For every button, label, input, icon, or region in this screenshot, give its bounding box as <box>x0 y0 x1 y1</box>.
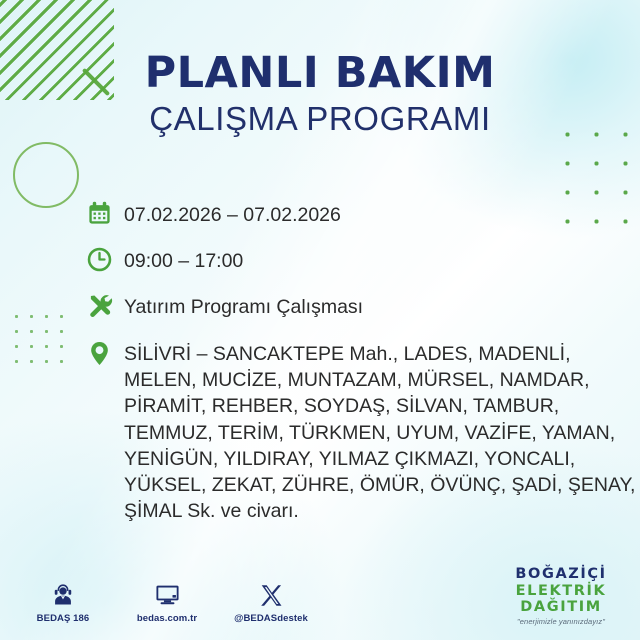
headset-support-icon <box>24 578 102 608</box>
page-subtitle: ÇALIŞMA PROGRAMI <box>0 102 640 137</box>
address-line: SİLİVRİ – SANCAKTEPE Mah., LADES, MADENL… <box>124 343 570 365</box>
address-line: PİRAMİT, REHBER, SOYDAŞ, SİLVAN, TAMBUR, <box>124 395 559 417</box>
logo-line-elektrik: ELEKTRİK <box>498 583 624 599</box>
time-range-text: 09:00 – 17:00 <box>124 246 243 275</box>
bedas-logo: BOĞAZİÇİ ELEKTRİK DAĞITIM "enerjimizle y… <box>498 566 624 626</box>
circle-outline-decoration <box>13 142 79 208</box>
contact-x-account[interactable]: @BEDASdestek <box>232 578 310 624</box>
clock-icon <box>86 246 124 280</box>
address-row: SİLİVRİ – SANCAKTEPE Mah., LADES, MADENL… <box>86 338 632 525</box>
logo-line-dagitim: DAĞITIM <box>498 599 624 615</box>
contact-call-center[interactable]: BEDAŞ 186 <box>24 578 102 624</box>
logo-line-bogazici: BOĞAZİÇİ <box>498 566 624 582</box>
calendar-icon <box>86 200 124 234</box>
address-line: ŞİMAL Sk. ve civarı. <box>124 500 299 522</box>
contact-label: BEDAŞ 186 <box>24 613 102 624</box>
contact-label: bedas.com.tr <box>128 613 206 624</box>
contact-website[interactable]: bedas.com.tr <box>128 578 206 624</box>
time-row: 09:00 – 17:00 <box>86 246 632 280</box>
work-type-text: Yatırım Programı Çalışması <box>124 292 363 321</box>
location-pin-icon <box>86 338 124 374</box>
address-line: YENİGÜN, YILDIRAY, YILMAZ ÇIKMAZI, YONCA… <box>124 448 575 470</box>
logo-tagline: "enerjimizle yanınızdayız" <box>498 617 624 626</box>
dot-grid-decoration-left <box>8 308 70 372</box>
monitor-icon <box>128 578 206 608</box>
maintenance-details: 07.02.2026 – 07.02.2026 09:00 – 17:00 <box>86 200 632 537</box>
address-line: TEMMUZ, TERİM, TÜRKMEN, UYUM, VAZİFE, YA… <box>124 422 615 444</box>
work-type-row: Yatırım Programı Çalışması <box>86 292 632 326</box>
address-line: MELEN, MUCİZE, MUNTAZAM, MÜRSEL, NAMDAR, <box>124 369 590 391</box>
contact-label: @BEDASdestek <box>232 613 310 624</box>
planned-maintenance-poster: PLANLI BAKIM ÇALIŞMA PROGRAMI <box>0 0 640 640</box>
x-twitter-icon <box>232 578 310 608</box>
address-line: YÜKSEL, ZEKAT, ZÜHRE, ÖMÜR, ÖVÜNÇ, ŞADİ,… <box>124 474 635 496</box>
date-row: 07.02.2026 – 07.02.2026 <box>86 200 632 234</box>
address-text: SİLİVRİ – SANCAKTEPE Mah., LADES, MADENL… <box>124 338 635 525</box>
tools-icon <box>86 292 124 326</box>
page-title: PLANLI BAKIM <box>0 52 640 96</box>
poster-header: PLANLI BAKIM ÇALIŞMA PROGRAMI <box>0 52 640 137</box>
contact-channels: BEDAŞ 186 bedas.com.tr <box>24 578 310 624</box>
poster-footer: BEDAŞ 186 bedas.com.tr <box>0 558 640 640</box>
date-range-text: 07.02.2026 – 07.02.2026 <box>124 200 341 229</box>
